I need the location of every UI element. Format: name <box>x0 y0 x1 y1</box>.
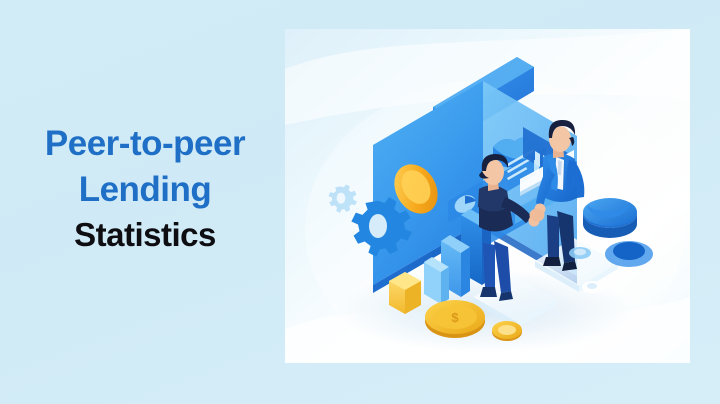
gold-coin-large: $ <box>425 300 485 338</box>
svg-text:$: $ <box>451 310 459 325</box>
title-line-1: Peer-to-peer <box>0 126 290 161</box>
title-line-3: Statistics <box>0 218 290 251</box>
page-title: Peer-to-peer Lending Statistics <box>0 126 290 251</box>
blue-cylinder-large <box>583 198 637 238</box>
illustration-panel: $ <box>285 29 690 363</box>
blue-disc-small <box>569 247 591 259</box>
banner-canvas: Peer-to-peer Lending Statistics <box>0 0 720 404</box>
handshake <box>530 209 545 222</box>
title-line-2: Lending <box>0 172 290 207</box>
gold-coin-small <box>492 321 522 341</box>
white-disc <box>582 281 602 293</box>
blue-cylinder-ring <box>605 241 653 267</box>
